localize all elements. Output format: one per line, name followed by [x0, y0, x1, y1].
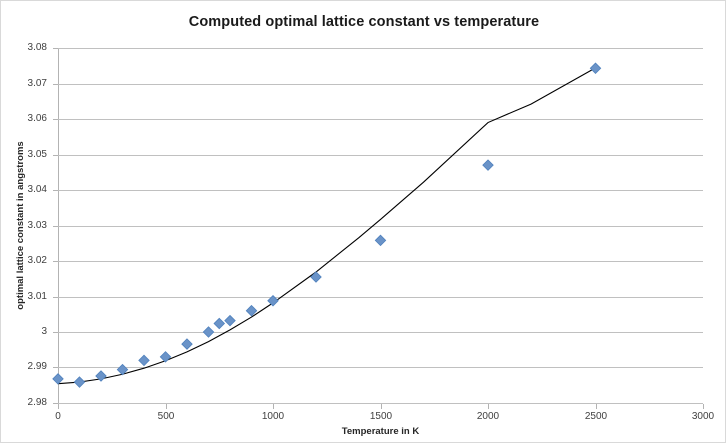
data-point-marker — [483, 160, 493, 170]
y-axis-tick-label: 2.98 — [0, 398, 47, 408]
x-axis-tick — [488, 404, 489, 409]
x-axis-tick-label: 1000 — [243, 412, 303, 422]
x-axis-tick-label: 2500 — [566, 412, 626, 422]
plot-area — [58, 48, 703, 403]
x-axis-tick-label: 500 — [136, 412, 196, 422]
data-point-marker — [214, 318, 224, 328]
y-axis-tick-label: 3.03 — [0, 221, 47, 231]
data-point-marker — [375, 235, 385, 245]
y-axis-tick-label: 3 — [0, 327, 47, 337]
data-point-marker — [590, 63, 600, 73]
data-point-marker — [182, 339, 192, 349]
x-axis-tick-label: 3000 — [673, 412, 726, 422]
x-axis-tick-label: 2000 — [458, 412, 518, 422]
data-point-marker — [53, 374, 63, 384]
data-point-marker — [311, 272, 321, 282]
y-axis-tick-label: 3.02 — [0, 256, 47, 266]
data-point-markers — [53, 63, 601, 387]
x-axis-tick — [596, 404, 597, 409]
y-axis-tick-label: 3.08 — [0, 43, 47, 53]
chart-title: Computed optimal lattice constant vs tem… — [1, 14, 726, 30]
data-point-marker — [139, 355, 149, 365]
x-axis-tick — [58, 404, 59, 409]
y-axis-tick-label: 3.07 — [0, 79, 47, 89]
data-point-marker — [74, 377, 84, 387]
x-axis-tick — [166, 404, 167, 409]
x-axis-tick-label: 0 — [28, 412, 88, 422]
data-series-layer — [58, 48, 703, 403]
data-point-marker — [160, 352, 170, 362]
data-point-marker — [268, 296, 278, 306]
y-axis-tick-label: 3.05 — [0, 150, 47, 160]
data-point-marker — [225, 315, 235, 325]
x-axis-tick-label: 1500 — [351, 412, 411, 422]
y-axis-tick-label: 3.06 — [0, 114, 47, 124]
x-axis-tick — [381, 404, 382, 409]
x-axis-tick — [703, 404, 704, 409]
x-axis-title: Temperature in K — [58, 426, 703, 437]
x-axis-tick — [273, 404, 274, 409]
y-axis-tick-label: 3.04 — [0, 185, 47, 195]
data-point-marker — [203, 327, 213, 337]
y-axis-tick-label: 3.01 — [0, 292, 47, 302]
trendline — [58, 68, 596, 384]
gridline — [58, 403, 703, 404]
y-axis-tick-label: 2.99 — [0, 362, 47, 372]
chart-container: Computed optimal lattice constant vs tem… — [0, 0, 726, 443]
